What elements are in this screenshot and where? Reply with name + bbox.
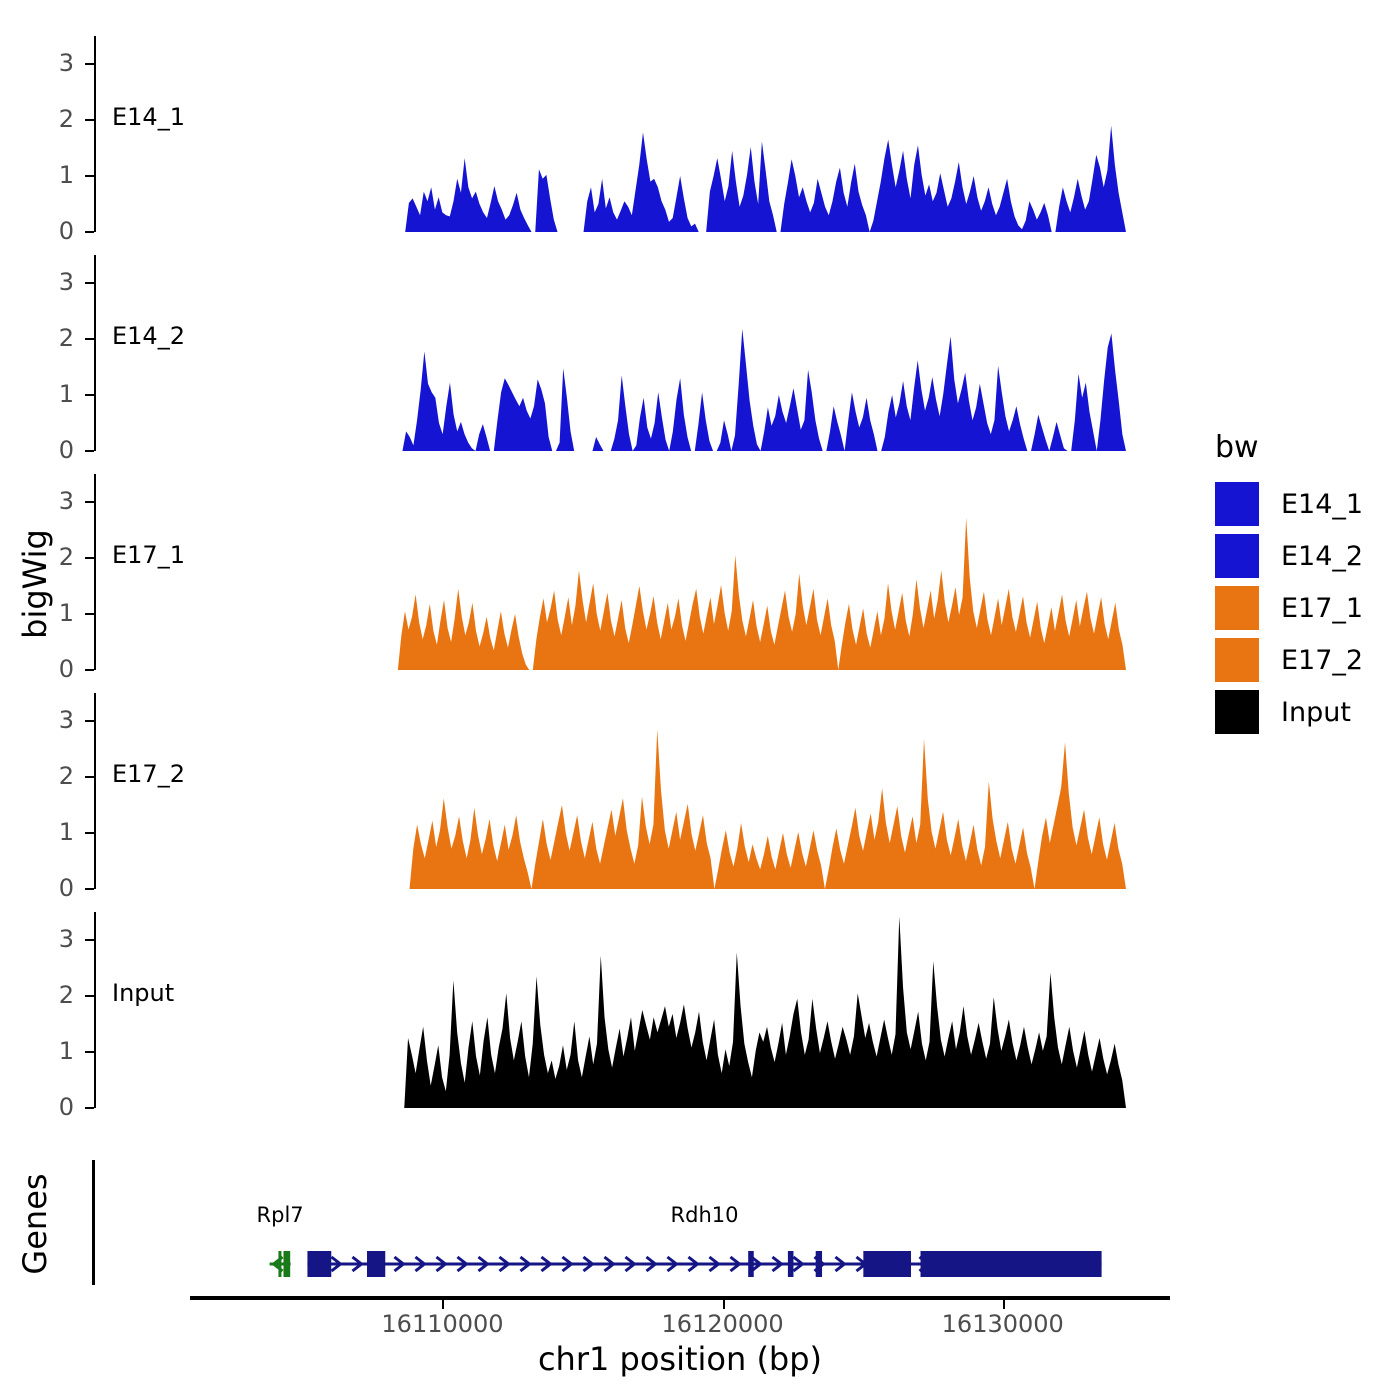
genome-browser-figure: bigWig Genes 0123E14_10123E14_20123E17_1… (0, 0, 1400, 1400)
track-label-input: Input (112, 979, 174, 1007)
track-panel-e14_1: 0123E14_1 (94, 36, 1184, 232)
gene-exon (863, 1251, 911, 1277)
genes-track-svg: Rpl7Rdh10 (92, 1160, 1182, 1290)
track-panel-e17_1: 0123E17_1 (94, 474, 1184, 670)
gene-exon (307, 1251, 331, 1277)
y-tick (85, 338, 94, 340)
y-tick-label: 2 (28, 983, 74, 1007)
gene-exon (748, 1251, 754, 1277)
signal-area-e17_2 (238, 693, 1126, 889)
y-tick-label: 1 (28, 163, 74, 187)
y-tick (85, 119, 94, 121)
y-tick (85, 63, 94, 65)
legend-label: E17_2 (1281, 645, 1363, 676)
legend-swatch (1215, 482, 1259, 526)
legend-label: Input (1281, 697, 1351, 728)
y-tick (85, 231, 94, 233)
genes-panel: Rpl7Rdh10 (92, 1160, 1182, 1290)
y-tick-label: 1 (28, 382, 74, 406)
y-tick (85, 1051, 94, 1053)
y-axis-spine (94, 474, 96, 670)
legend: bw E14_1E14_2E17_1E17_2Input (1215, 430, 1395, 720)
y-tick-label: 0 (28, 657, 74, 681)
track-label-e17_1: E17_1 (112, 541, 185, 569)
y-axis-spine (94, 255, 96, 451)
y-tick (85, 669, 94, 671)
legend-label: E14_2 (1281, 541, 1363, 572)
plot-area (238, 474, 1126, 670)
legend-item-e17_1[interactable]: E17_1 (1215, 586, 1363, 630)
y-tick-label: 0 (28, 219, 74, 243)
y-tick-label: 3 (28, 270, 74, 294)
y-tick (85, 1107, 94, 1109)
plot-area (238, 36, 1126, 232)
gene-exon (921, 1251, 1102, 1277)
legend-item-e17_2[interactable]: E17_2 (1215, 638, 1363, 682)
y-tick (85, 613, 94, 615)
y-tick-label: 3 (28, 708, 74, 732)
legend-swatch (1215, 586, 1259, 630)
track-panel-input: 0123Input (94, 912, 1184, 1108)
y-tick-label: 3 (28, 927, 74, 951)
y-tick (85, 557, 94, 559)
y-tick (85, 720, 94, 722)
gene-label-rdh10: Rdh10 (671, 1203, 739, 1227)
legend-swatch (1215, 534, 1259, 578)
legend-label: E14_1 (1281, 489, 1363, 520)
gene-exon (788, 1251, 794, 1277)
plot-area (238, 912, 1126, 1108)
genes-axis-label: Genes (16, 1144, 54, 1304)
y-tick-label: 2 (28, 764, 74, 788)
plot-area (238, 255, 1126, 451)
legend-item-e14_2[interactable]: E14_2 (1215, 534, 1363, 578)
signal-area-input (238, 912, 1126, 1108)
legend-label: E17_1 (1281, 593, 1363, 624)
gene-exon (367, 1251, 385, 1277)
legend-item-input[interactable]: Input (1215, 690, 1351, 734)
y-tick-label: 3 (28, 51, 74, 75)
signal-area-e17_1 (238, 474, 1126, 670)
track-panel-e14_2: 0123E14_2 (94, 255, 1184, 451)
signal-area-e14_2 (238, 255, 1126, 451)
y-axis-spine (94, 912, 96, 1108)
x-tick-label: 16110000 (352, 1312, 532, 1336)
legend-title: bw (1215, 430, 1259, 465)
y-tick (85, 832, 94, 834)
track-panel-e17_2: 0123E17_2 (94, 693, 1184, 889)
y-tick-label: 2 (28, 107, 74, 131)
y-tick-label: 0 (28, 438, 74, 462)
legend-swatch (1215, 690, 1259, 734)
y-tick-label: 1 (28, 601, 74, 625)
y-tick-label: 0 (28, 876, 74, 900)
x-tick (442, 1300, 444, 1309)
y-tick-label: 0 (28, 1095, 74, 1119)
y-tick-label: 3 (28, 489, 74, 513)
signal-area-e14_1 (238, 36, 1126, 232)
y-tick (85, 282, 94, 284)
plot-area (238, 693, 1126, 889)
y-tick (85, 394, 94, 396)
y-tick (85, 888, 94, 890)
track-label-e14_1: E14_1 (112, 103, 185, 131)
y-tick (85, 175, 94, 177)
bigwig-axis-label: bigWig (16, 484, 54, 684)
y-tick-label: 2 (28, 326, 74, 350)
x-axis-title: chr1 position (bp) (390, 1340, 970, 1378)
genes-track: Rpl7Rdh10 (92, 1160, 1182, 1290)
y-axis-spine (94, 36, 96, 232)
gene-exon (283, 1251, 290, 1277)
legend-item-e14_1[interactable]: E14_1 (1215, 482, 1363, 526)
track-label-e17_2: E17_2 (112, 760, 185, 788)
y-tick-label: 2 (28, 545, 74, 569)
gene-exon (816, 1251, 822, 1277)
x-tick-label: 16130000 (913, 1312, 1093, 1336)
y-tick (85, 501, 94, 503)
x-tick (1003, 1300, 1005, 1309)
y-tick (85, 939, 94, 941)
y-tick-label: 1 (28, 1039, 74, 1063)
x-tick (723, 1300, 725, 1309)
y-axis-spine (94, 693, 96, 889)
y-tick-label: 1 (28, 820, 74, 844)
track-label-e14_2: E14_2 (112, 322, 185, 350)
gene-exon (278, 1251, 281, 1277)
y-tick (85, 776, 94, 778)
legend-swatch (1215, 638, 1259, 682)
x-tick-label: 16120000 (633, 1312, 813, 1336)
y-tick (85, 995, 94, 997)
y-tick (85, 450, 94, 452)
gene-label-rpl7: Rpl7 (257, 1203, 304, 1227)
x-axis (190, 1296, 1170, 1300)
